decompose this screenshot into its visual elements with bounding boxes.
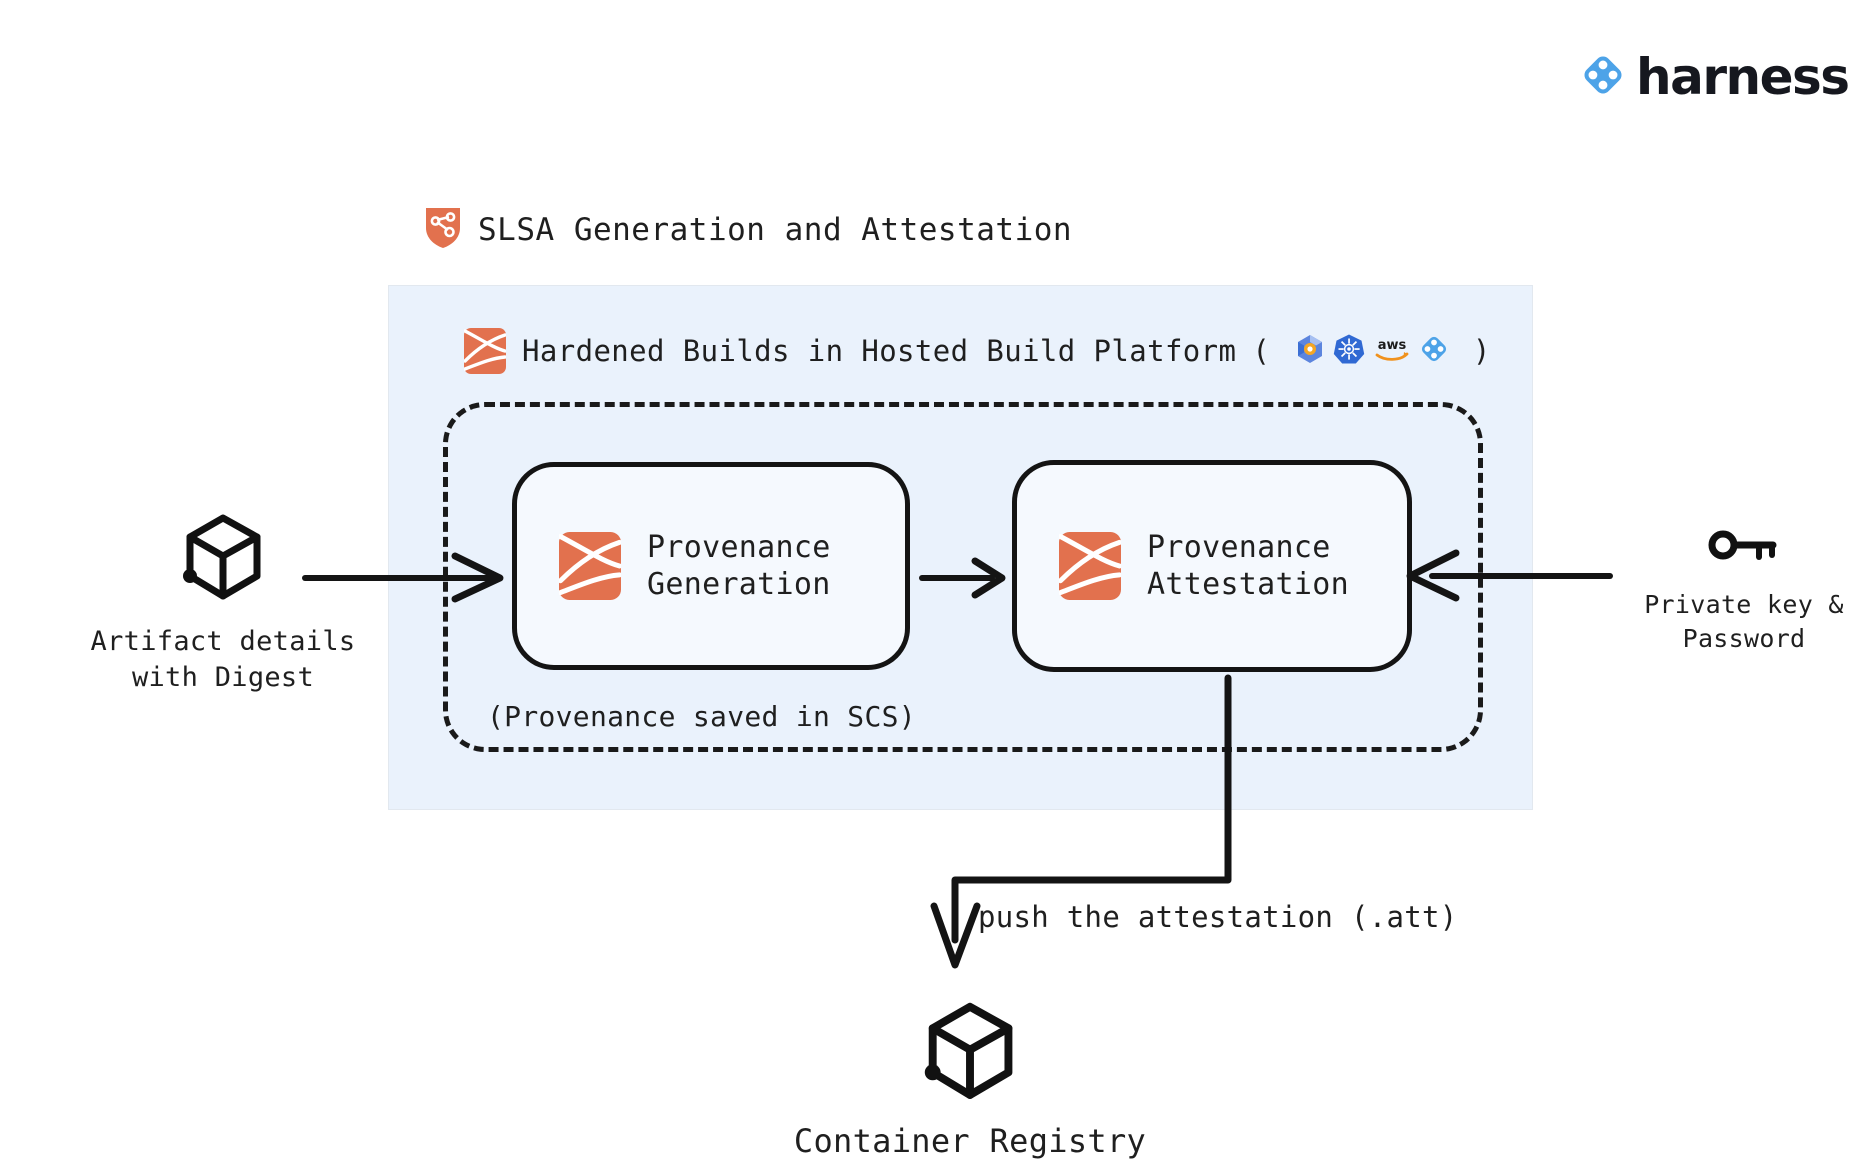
container-registry-node: Container Registry bbox=[790, 1000, 1150, 1160]
provenance-generation-line2: Generation bbox=[647, 567, 831, 602]
page-title: SLSA Generation and Attestation bbox=[478, 212, 1072, 248]
aws-icon: aws bbox=[1372, 334, 1412, 368]
harness-wordmark: harness bbox=[1636, 52, 1849, 102]
provenance-attestation-line2: Attestation bbox=[1147, 567, 1349, 602]
provenance-attestation-box[interactable]: Provenance Attestation bbox=[1012, 460, 1412, 672]
panel-header: Hardened Builds in Hosted Build Platform… bbox=[464, 328, 1490, 374]
push-attestation-label: push the attestation (.att) bbox=[978, 900, 1458, 934]
cube-icon bbox=[177, 589, 269, 608]
provenance-attestation-line1: Provenance bbox=[1147, 530, 1331, 565]
artifact-node-caption: Artifact details with Digest bbox=[88, 624, 358, 697]
scs-logo-icon bbox=[464, 328, 506, 374]
provenance-attestation-label: Provenance Attestation bbox=[1147, 529, 1349, 604]
open-paren: ( bbox=[1252, 334, 1269, 368]
harness-logo: harness bbox=[1580, 52, 1849, 102]
scs-logo-icon bbox=[559, 532, 621, 600]
key-icon bbox=[1707, 553, 1781, 572]
harness-diamond-icon bbox=[1580, 52, 1626, 102]
platform-icon-group: aws bbox=[1294, 333, 1449, 369]
provenance-generation-line1: Provenance bbox=[647, 530, 831, 565]
google-cloud-icon bbox=[1294, 333, 1326, 369]
scs-logo-icon bbox=[1059, 532, 1121, 600]
kubernetes-icon bbox=[1333, 333, 1365, 369]
scs-note-caption: (Provenance saved in SCS) bbox=[487, 700, 916, 733]
harness-icon bbox=[1419, 334, 1449, 368]
provenance-generation-box[interactable]: Provenance Generation bbox=[512, 462, 910, 670]
artifact-node: Artifact details with Digest bbox=[88, 512, 358, 697]
close-paren: ) bbox=[1473, 334, 1490, 368]
provenance-generation-label: Provenance Generation bbox=[647, 529, 831, 604]
cube-icon bbox=[918, 1089, 1022, 1108]
private-key-node: Private key & Password bbox=[1628, 528, 1860, 656]
slsa-section-title: SLSA Generation and Attestation bbox=[424, 206, 1072, 254]
svg-text:aws: aws bbox=[1378, 338, 1407, 353]
container-registry-caption: Container Registry bbox=[790, 1122, 1150, 1160]
slsa-shield-icon bbox=[424, 206, 462, 254]
panel-header-label: Hardened Builds in Hosted Build Platform bbox=[522, 334, 1236, 368]
private-key-caption: Private key & Password bbox=[1628, 588, 1860, 656]
